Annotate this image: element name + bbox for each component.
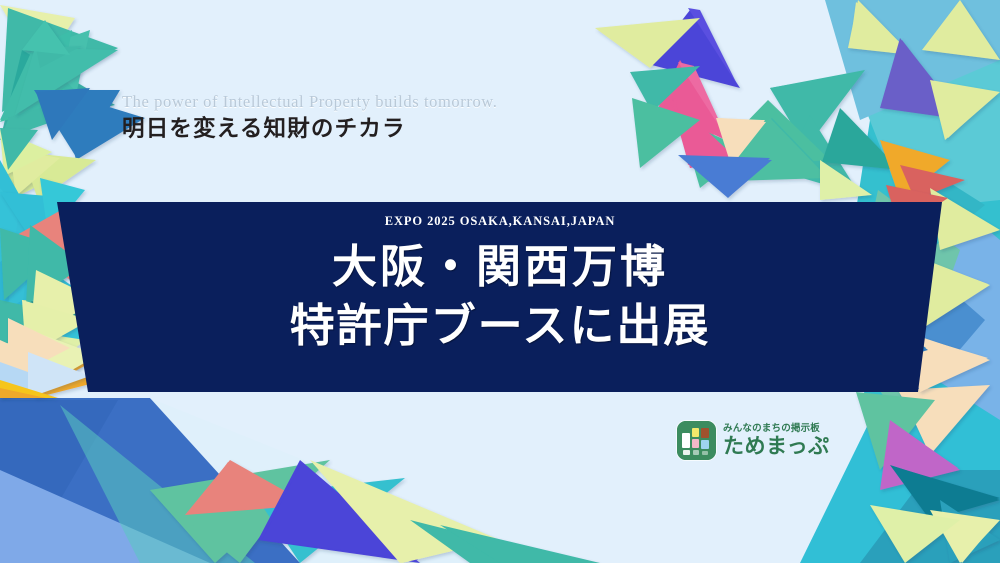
tamemap-logo[interactable]: みんなのまちの掲示板 ためまっぷ <box>677 421 830 460</box>
headline-line-1: 大阪・関西万博 <box>0 238 1000 297</box>
tagline-english: The power of Intellectual Property build… <box>122 92 497 113</box>
tagline-japanese: 明日を変える知財のチカラ <box>122 115 497 144</box>
banner-kicker: EXPO 2025 OSAKA,KANSAI,JAPAN <box>0 214 1000 229</box>
headline-line-2: 特許庁ブースに出展 <box>0 297 1000 356</box>
slide-canvas: The power of Intellectual Property build… <box>0 0 1000 563</box>
logo-subtitle: みんなのまちの掲示板 <box>723 424 830 434</box>
bulletin-board-icon <box>677 421 716 460</box>
tagline-block: The power of Intellectual Property build… <box>122 92 497 144</box>
logo-wordmark: みんなのまちの掲示板 ためまっぷ <box>723 424 830 457</box>
headline-banner-text: EXPO 2025 OSAKA,KANSAI,JAPAN 大阪・関西万博 特許庁… <box>0 214 1000 355</box>
logo-name: ためまっぷ <box>723 436 830 457</box>
